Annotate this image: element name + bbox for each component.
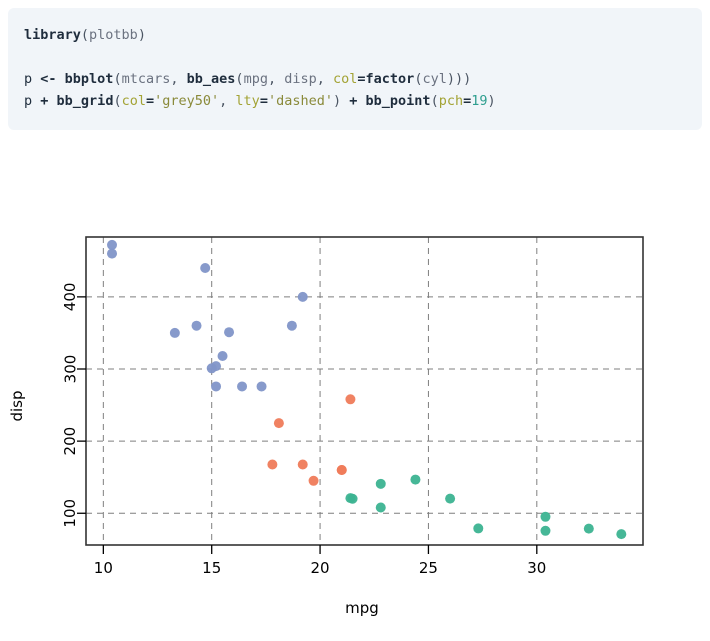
code-token: =: [357, 71, 365, 87]
grid-lines: [86, 237, 643, 545]
code-token: (: [431, 93, 439, 109]
data-point: [274, 418, 284, 428]
data-point: [192, 321, 202, 331]
data-point: [218, 351, 228, 361]
code-token: ,: [317, 71, 333, 87]
code-token: bb_grid: [57, 93, 114, 109]
code-line: library(plotbb): [24, 24, 686, 46]
code-line: p + bb_grid(col='grey50', lty='dashed') …: [24, 90, 686, 112]
data-point: [345, 394, 355, 404]
code-token: plotbb: [89, 27, 138, 43]
data-point: [410, 475, 420, 485]
code-token: [48, 93, 56, 109]
code-line: [24, 46, 686, 68]
code-token: ,: [268, 71, 284, 87]
code-token: 'grey50': [154, 93, 219, 109]
y-tick-label: 200: [61, 427, 79, 456]
data-point: [107, 249, 117, 259]
x-tick-label: 30: [527, 559, 546, 577]
code-token: lty: [235, 93, 259, 109]
y-tick-label: 400: [61, 283, 79, 312]
x-axis-title: mpg: [345, 599, 379, 617]
axis-tick-labels: 1015202530100200300400: [61, 283, 546, 577]
data-point: [445, 494, 455, 504]
data-point: [237, 381, 247, 391]
code-token: col: [122, 93, 146, 109]
code-token: cyl: [422, 71, 446, 87]
code-token: (: [81, 27, 89, 43]
code-token: ,: [170, 71, 186, 87]
code-token: col: [333, 71, 357, 87]
code-token: library: [24, 27, 81, 43]
data-point: [267, 460, 277, 470]
data-point: [211, 381, 221, 391]
data-point: [107, 240, 117, 250]
data-point: [298, 460, 308, 470]
data-point: [337, 465, 347, 475]
data-point: [584, 524, 594, 534]
code-token: bb_point: [366, 93, 431, 109]
data-point: [616, 529, 626, 539]
x-tick-label: 15: [202, 559, 221, 577]
data-point: [473, 523, 483, 533]
code-token: factor: [366, 71, 415, 87]
code-line: p <- bbplot(mtcars, bb_aes(mpg, disp, co…: [24, 68, 686, 90]
code-token: mtcars: [122, 71, 171, 87]
data-point: [298, 292, 308, 302]
code-token: disp: [284, 71, 317, 87]
plot-frame: [86, 237, 643, 545]
data-point: [257, 381, 267, 391]
code-token: =: [146, 93, 154, 109]
plot-border: [86, 237, 643, 545]
y-axis-title: disp: [8, 390, 26, 421]
code-token: (: [113, 93, 121, 109]
scatter-plot: 1015202530100200300400 mpg disp: [0, 140, 710, 641]
code-token: [357, 93, 365, 109]
code-token: [57, 71, 65, 87]
code-token: bbplot: [65, 71, 114, 87]
y-tick-label: 300: [61, 355, 79, 384]
data-point: [540, 526, 550, 536]
code-token: ): [333, 93, 349, 109]
x-tick-label: 20: [311, 559, 330, 577]
axis-ticks: [77, 297, 537, 554]
plot-figure: 1015202530100200300400 mpg disp: [0, 140, 710, 641]
code-token: bb_aes: [187, 71, 236, 87]
y-tick-label: 100: [61, 499, 79, 528]
data-points: [107, 240, 626, 539]
code-token: p: [24, 71, 40, 87]
code-token: =: [463, 93, 471, 109]
code-token: ,: [219, 93, 235, 109]
code-token: 19: [471, 93, 487, 109]
code-token: (: [113, 71, 121, 87]
code-token: mpg: [244, 71, 268, 87]
data-point: [287, 321, 297, 331]
code-token: (: [235, 71, 243, 87]
code-token: ): [138, 27, 146, 43]
data-point: [376, 502, 386, 512]
code-token: 'dashed': [268, 93, 333, 109]
x-tick-label: 10: [94, 559, 113, 577]
code-token: =: [260, 93, 268, 109]
code-token: ): [488, 93, 496, 109]
code-token: <-: [40, 71, 56, 87]
code-token: pch: [439, 93, 463, 109]
code-token: p: [24, 93, 40, 109]
data-point: [170, 328, 180, 338]
code-block: library(plotbb)p <- bbplot(mtcars, bb_ae…: [8, 8, 702, 130]
data-point: [540, 512, 550, 522]
data-point: [207, 363, 217, 373]
code-token: ))): [447, 71, 471, 87]
data-point: [376, 479, 386, 489]
data-point: [309, 476, 319, 486]
x-tick-label: 25: [419, 559, 438, 577]
data-point: [224, 327, 234, 337]
data-point: [345, 493, 355, 503]
data-point: [200, 263, 210, 273]
